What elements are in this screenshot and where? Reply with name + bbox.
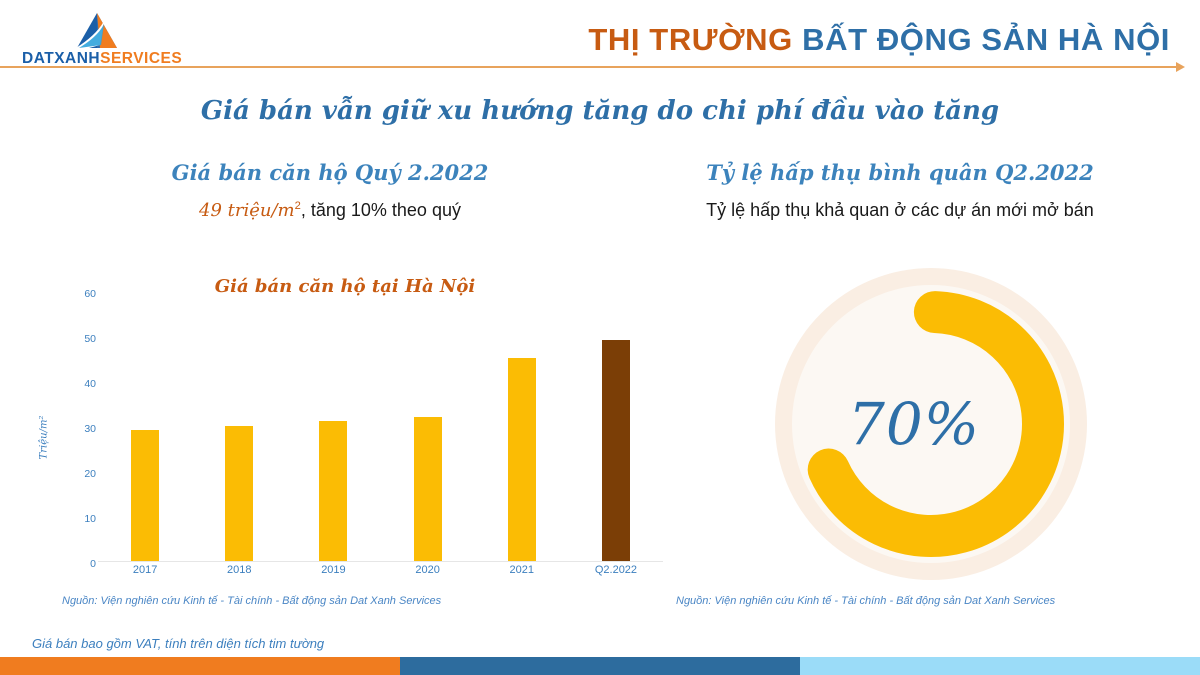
bar-chart-baseline [98,561,663,563]
page-title-blue: BẤT ĐỘNG SẢN HÀ NỘI [802,22,1170,57]
bar-chart-x-label: 2021 [475,564,569,576]
footer-segment-light-blue [800,657,1200,675]
bar-chart-y-tick: 0 [44,558,96,570]
bar-slot [475,291,569,561]
header-divider [0,66,1178,68]
footer-segment-orange [0,657,400,675]
bar-chart-y-axis: Triệu/m² 0102030405060 [40,272,96,564]
bar-2017[interactable] [131,430,159,561]
left-column-subtext: 49 triệu/m2, tăng 10% theo quý [70,200,590,221]
apartment-price-change: , tăng 10% theo quý [301,200,461,220]
bar-slot [192,291,286,561]
bar-slot [381,291,475,561]
right-arrowhead-icon [1176,62,1185,72]
bar-chart-x-label: 2018 [192,564,286,576]
page-title: THỊ TRƯỜNG BẤT ĐỘNG SẢN HÀ NỘI [588,22,1170,58]
footer-segment-dark-blue [400,657,800,675]
right-column-subtext: Tỷ lệ hấp thụ khả quan ở các dự án mới m… [620,200,1180,221]
right-column-header: Tỷ lệ hấp thụ bình quân Q2.2022 Tỷ lệ hấ… [620,160,1180,221]
bar-chart-x-label: 2020 [381,564,475,576]
bar-chart-x-label: Q2.2022 [569,564,663,576]
footer-color-bar [0,657,1200,675]
bar-slot [286,291,380,561]
bar-slot [98,291,192,561]
bar-chart-x-label: 2019 [286,564,380,576]
bar-slot [569,291,663,561]
bar-chart-x-label: 2017 [98,564,192,576]
bar-chart-y-tick: 50 [44,333,96,345]
slide-root: DATXANHSERVICES THỊ TRƯỜNG BẤT ĐỘNG SẢN … [0,0,1200,675]
sail-triangle-logo-icon [70,12,124,50]
bar-chart-y-tick: 60 [44,288,96,300]
bar-2019[interactable] [319,421,347,561]
brand-logo[interactable]: DATXANHSERVICES [22,12,182,68]
brand-name-secondary: SERVICES [100,50,182,67]
bar-2020[interactable] [414,417,442,561]
bar-chart-y-tick: 10 [44,513,96,525]
bar-Q2.2022[interactable] [602,340,630,561]
apartment-price-value: 49 triệu/m2 [199,200,301,220]
source-note-right: Nguồn: Viện nghiên cứu Kinh tế - Tài chí… [676,595,1055,607]
bar-chart-y-tick: 40 [44,378,96,390]
left-column-header: Giá bán căn hộ Quý 2.2022 49 triệu/m2, t… [70,160,590,221]
donut-value-label: 70% [775,268,1087,580]
source-note-left: Nguồn: Viện nghiên cứu Kinh tế - Tài chí… [62,595,441,607]
vat-note: Giá bán bao gồm VAT, tính trên diện tích… [32,636,324,651]
bar-chart-y-tick: 30 [44,423,96,435]
bar-chart-bars [98,291,663,561]
slide-subtitle: Giá bán vẫn giữ xu hướng tăng do chi phí… [0,96,1200,126]
right-column-heading: Tỷ lệ hấp thụ bình quân Q2.2022 [620,160,1180,185]
absorption-rate-donut-chart: 70% [735,268,1155,588]
bar-chart-plot-area: 20172018201920202021Q2.2022 [98,272,663,562]
bar-chart: Giá bán căn hộ tại Hà Nội Triệu/m² 01020… [40,272,670,592]
bar-chart-y-tick: 20 [44,468,96,480]
bar-2021[interactable] [508,358,536,561]
page-title-orange: THỊ TRƯỜNG [588,22,793,57]
brand-name-primary: DATXANH [22,50,100,67]
bar-2018[interactable] [225,426,253,561]
left-column-heading: Giá bán căn hộ Quý 2.2022 [70,160,590,185]
bar-chart-x-axis-labels: 20172018201920202021Q2.2022 [98,564,663,576]
